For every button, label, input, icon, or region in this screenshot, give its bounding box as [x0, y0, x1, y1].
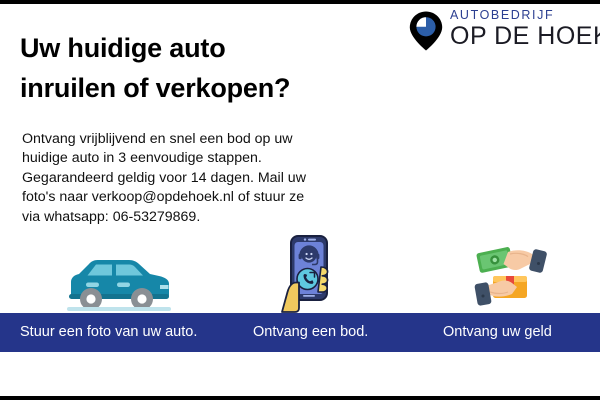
logo-wordmark: AUTOBEDRIJF OP DE HOEK: [450, 8, 600, 50]
headline-line-2: inruilen of verkopen?: [20, 68, 380, 108]
top-edge-bar: [0, 0, 600, 4]
advertisement-card: AUTOBEDRIJF OP DE HOEK Uw huidige auto i…: [0, 0, 600, 400]
body-copy: Ontvang vrijblijvend en snel een bod op …: [22, 130, 362, 227]
step-illustrations: [0, 232, 600, 314]
bottom-edge-bar: [0, 396, 600, 400]
phone-in-hand-icon: [277, 234, 339, 314]
company-logo[interactable]: AUTOBEDRIJF OP DE HOEK: [406, 8, 594, 52]
map-pin-icon: [406, 10, 446, 52]
step-caption-2: Ontvang een bod.: [253, 324, 368, 340]
body-line-5: via whatsapp: 06-53279869.: [22, 208, 362, 227]
step-caption-1: Stuur een foto van uw auto.: [20, 324, 197, 340]
headline: Uw huidige auto inruilen of verkopen?: [20, 28, 380, 108]
step-caption-3: Ontvang uw geld: [443, 324, 552, 340]
body-line-1: Ontvang vrijblijvend en snel een bod op …: [22, 130, 362, 149]
logo-line-opdehoek: OP DE HOEK: [450, 23, 600, 50]
body-line-2: huidige auto in 3 eenvoudige stappen.: [22, 149, 362, 168]
steps-banner: Stuur een foto van uw auto. Ontvang een …: [0, 313, 600, 352]
body-line-3: Gegarandeerd geldig voor 14 dagen. Mail …: [22, 169, 362, 188]
logo-line-autobedrijf: AUTOBEDRIJF: [450, 8, 600, 23]
headline-line-1: Uw huidige auto: [20, 28, 380, 68]
money-exchange-icon: [468, 238, 554, 314]
body-line-4: foto's naar verkoop@opdehoek.nl of stuur…: [22, 188, 362, 207]
car-icon: [55, 252, 175, 314]
